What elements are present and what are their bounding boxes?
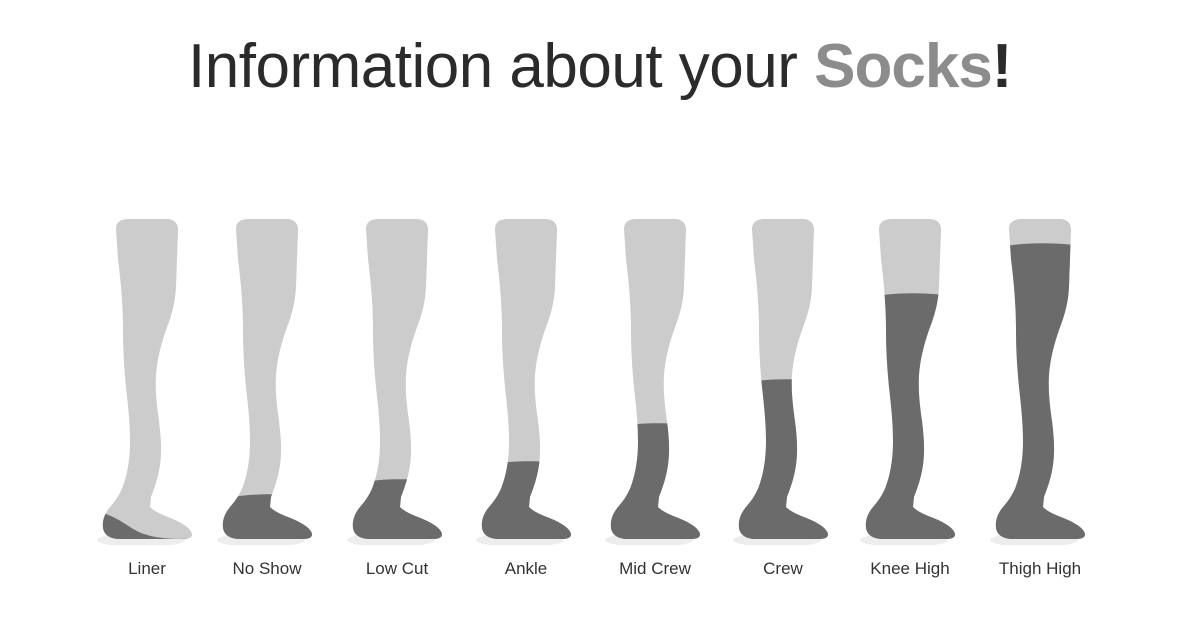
- page-title-plain: Information about your: [188, 32, 814, 101]
- sock-illustration[interactable]: [465, 215, 587, 555]
- leg-graphic: [722, 215, 844, 545]
- infographic-page: Information about your Socks! LinerNo Sh…: [0, 0, 1200, 630]
- sock-illustration[interactable]: [722, 215, 844, 555]
- leg-graphic: [849, 215, 971, 545]
- page-title-exclamation: !: [992, 32, 1012, 101]
- sock-illustration[interactable]: [979, 215, 1101, 555]
- leg-graphic: [86, 215, 208, 545]
- sock-label: Thigh High: [960, 556, 1120, 582]
- sock-labels-row: LinerNo ShowLow CutAnkleMid CrewCrewKnee…: [0, 556, 1200, 596]
- sock-shape: [849, 293, 971, 545]
- sock-shape: [336, 479, 458, 545]
- leg-graphic: [594, 215, 716, 545]
- sock-shape: [594, 423, 716, 545]
- sock-shape: [979, 243, 1101, 545]
- sock-illustration[interactable]: [849, 215, 971, 555]
- sock-shape: [465, 461, 587, 545]
- sock-illustration[interactable]: [336, 215, 458, 555]
- page-title-accent: Socks: [814, 32, 992, 101]
- leg-graphic: [465, 215, 587, 545]
- leg-graphic: [206, 215, 328, 545]
- bare-leg-shape: [103, 219, 192, 539]
- page-title: Information about your Socks!: [0, 28, 1200, 106]
- bare-leg-shape: [223, 219, 312, 539]
- leg-graphic: [979, 215, 1101, 545]
- sock-shape: [722, 379, 844, 545]
- leg-graphic: [336, 215, 458, 545]
- sock-illustrations-row: [0, 215, 1200, 555]
- sock-illustration[interactable]: [594, 215, 716, 555]
- sock-illustration[interactable]: [206, 215, 328, 555]
- sock-illustration[interactable]: [86, 215, 208, 555]
